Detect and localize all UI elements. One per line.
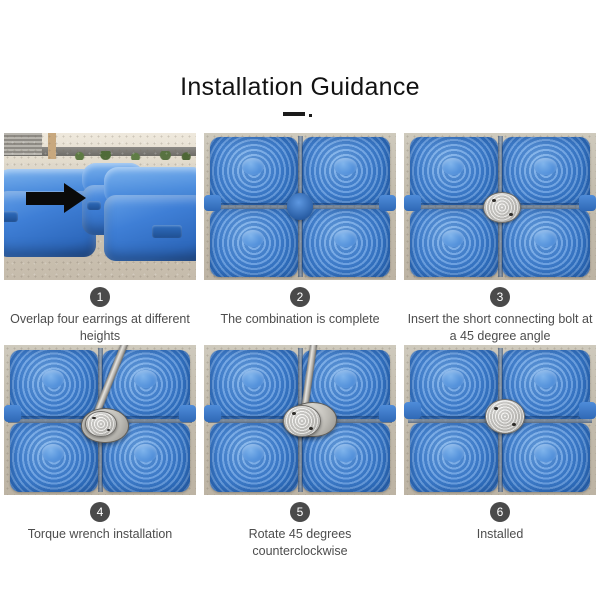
float-handle-right [152,225,182,238]
step-photo-1 [4,133,196,280]
step-caption-text-2: The combination is complete [204,311,396,328]
float-center-knob [287,193,314,219]
float-side-notch-left [4,405,21,422]
step-photo-5 [204,345,396,495]
float-quadrant-top-right [502,137,590,205]
title-underline-decoration [283,108,317,120]
float-side-notch-left [404,195,421,211]
arrow-head [64,183,86,213]
connecting-bolt-plate [483,192,521,223]
float-side-notch-right [579,195,596,211]
bolt-hole-2 [309,427,313,430]
step-caption-text-3: Insert the short connecting bolt at a 45… [404,311,596,345]
float-quadrant-bottom-right [502,209,590,277]
step-cell-6: 6 Installed [400,345,600,560]
float-quadrant-bottom-right [302,209,390,277]
float-quadrant-top-left [410,350,498,419]
bolt-hole-1 [494,407,498,411]
float-side-notch-right [579,402,596,419]
black-right-arrow-icon [26,183,86,213]
step-cell-2: 2 The combination is complete [200,133,400,345]
step-cell-1: 1 Overlap four earrings at different hei… [0,133,200,345]
step-caption-6: 6 Installed [404,495,596,543]
steps-grid: 1 Overlap four earrings at different hei… [0,133,600,560]
float-assembly [4,345,196,495]
float-quadrant-bottom-left [410,423,498,492]
bolt-hole-2 [512,423,516,427]
bolt-hole-2 [509,213,513,216]
connecting-bolt-plate [85,411,118,437]
float-quadrant-top-left [210,350,298,419]
float-handle-left [4,211,18,222]
step-caption-text-6: Installed [404,526,596,543]
step-badge-1: 1 [90,287,110,307]
step-photo-3 [404,133,596,280]
step-photo-6 [404,345,596,495]
float-quadrant-bottom-left [210,209,298,277]
float-side-notch-right [379,195,396,211]
bolt-hole-1 [492,199,496,202]
step-badge-4: 4 [90,502,110,522]
step-caption-3: 3 Insert the short connecting bolt at a … [404,280,596,345]
step-badge-3: 3 [490,287,510,307]
float-side-notch-right [379,405,396,422]
bolt-hole-1 [292,412,296,415]
connecting-bolt-plate [485,399,525,434]
arrow-shaft [26,192,66,205]
float-quadrant-top-left [210,137,298,205]
step-caption-text-4: Torque wrench installation [4,526,196,543]
float-handle-middle [87,201,101,210]
step-cell-5: 5 Rotate 45 degrees counterclockwise [200,345,400,560]
float-assembly [204,133,396,280]
float-assembly [204,345,396,495]
step-caption-1: 1 Overlap four earrings at different hei… [4,280,196,345]
float-side-notch-right [179,405,196,422]
step-cell-3: 3 Insert the short connecting bolt at a … [400,133,600,345]
bolt-hole-1 [92,417,95,420]
connecting-bolt-plate [283,405,321,437]
step-photo-4 [4,345,196,495]
step-photo-2 [204,133,396,280]
step-caption-2: 2 The combination is complete [204,280,396,328]
float-side-notch-left [404,402,421,419]
float-quadrant-bottom-right [502,423,590,492]
float-assembly [404,345,596,495]
float-assembly [404,133,596,280]
float-quadrant-bottom-left [410,209,498,277]
step-caption-5: 5 Rotate 45 degrees counterclockwise [204,495,396,560]
float-quadrant-top-left [10,350,98,419]
float-side-notch-left [204,405,221,422]
float-quadrant-top-right [302,137,390,205]
float-quadrant-top-left [410,137,498,205]
steps-row-top: 1 Overlap four earrings at different hei… [0,133,600,345]
step-caption-text-5: Rotate 45 degrees counterclockwise [204,526,396,560]
step-badge-5: 5 [290,502,310,522]
step-cell-4: 4 Torque wrench installation [0,345,200,560]
step-caption-4: 4 Torque wrench installation [4,495,196,543]
steps-row-bottom: 4 Torque wrench installation [0,345,600,560]
step-caption-text-1: Overlap four earrings at different heigh… [4,311,196,345]
float-body-right [104,195,196,261]
decoration-dot [309,114,312,117]
step-badge-6: 6 [490,502,510,522]
float-side-notch-left [204,195,221,211]
step-badge-2: 2 [290,287,310,307]
title-block: Installation Guidance [0,0,600,120]
decoration-dash [283,112,305,116]
page-title: Installation Guidance [0,72,600,102]
bolt-hole-2 [107,429,110,432]
